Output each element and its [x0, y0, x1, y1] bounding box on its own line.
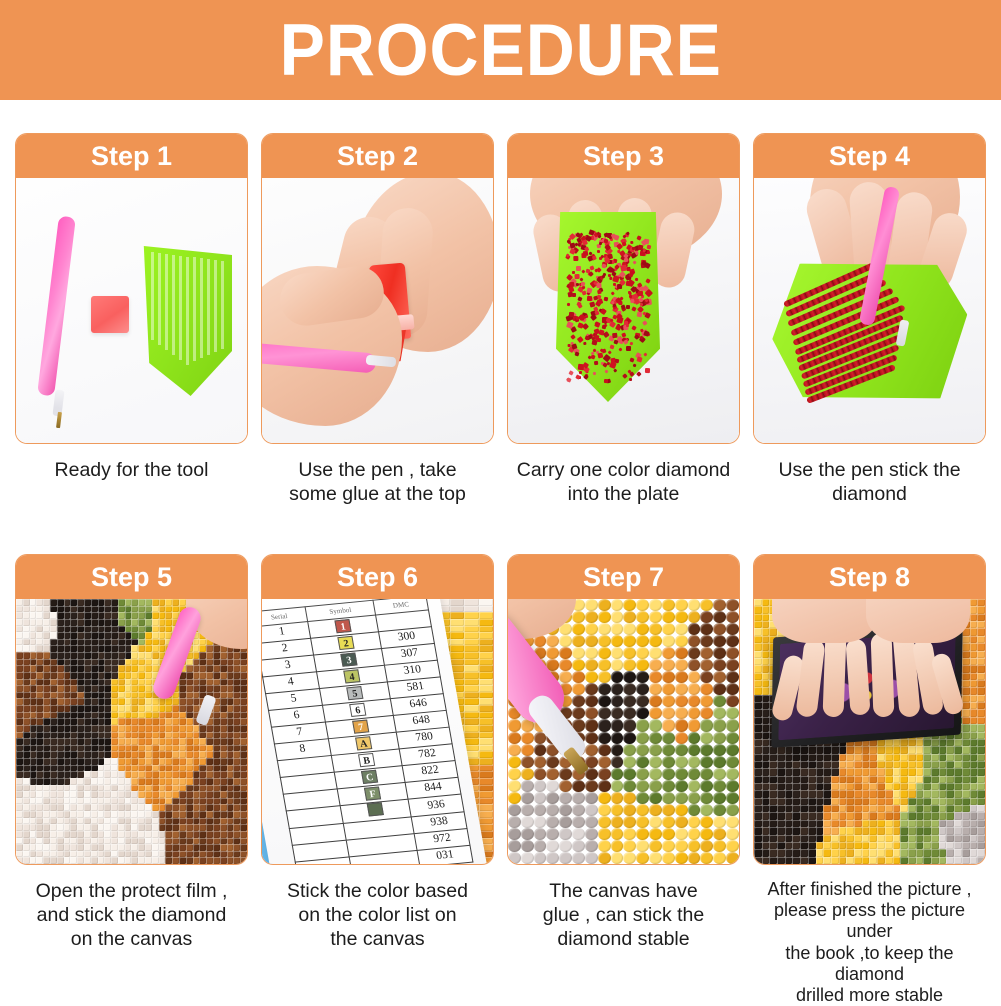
step-caption-8: After finished the picture , please pres… — [753, 879, 986, 1006]
step-header-4: Step 4 — [754, 134, 985, 178]
step-cell-3: Step 3 Carry one color diamond into the … — [507, 133, 740, 522]
step-cell-5: Step 5 Open the protect film , and stick… — [15, 554, 248, 1006]
step-header-label-1: Step 1 — [91, 143, 172, 170]
steps-row-top: Step 1 R — [15, 133, 986, 522]
glue-square-icon — [91, 296, 129, 333]
step-photo-6: Serial Symbol DMC 1122300333074431055581… — [262, 599, 493, 864]
step-header-label-2: Step 2 — [337, 143, 418, 170]
step-header-label-4: Step 4 — [829, 143, 910, 170]
step-header-label-6: Step 6 — [337, 564, 418, 591]
step-photo-1 — [16, 178, 247, 443]
step-card-7[interactable]: Step 7 — [507, 554, 740, 865]
step-header-7: Step 7 — [508, 555, 739, 599]
step-photo-7 — [508, 599, 739, 864]
step-cell-7: Step 7 The canvas have glue , can stick … — [507, 554, 740, 1006]
step-header-label-3: Step 3 — [583, 143, 664, 170]
page-title: PROCEDURE — [279, 14, 721, 87]
step-photo-3 — [508, 178, 739, 443]
step-cell-2: Step 2 — [261, 133, 494, 522]
step-card-6[interactable]: Step 6 Serial Symbol — [261, 554, 494, 865]
step-caption-3: Carry one color diamond into the plate — [507, 458, 740, 506]
step-card-1[interactable]: Step 1 — [15, 133, 248, 444]
steps-row-bottom: Step 5 Open the protect film , and stick… — [15, 554, 986, 1006]
green-tray-icon — [142, 246, 232, 396]
step-header-label-5: Step 5 — [91, 564, 172, 591]
steps-grid: Step 1 R — [0, 100, 1001, 1006]
step-card-8[interactable]: Step 8 — [753, 554, 986, 865]
step-cell-4: Step 4 Use the pen stick the diamond — [753, 133, 986, 522]
step-caption-2: Use the pen , take some glue at the top — [261, 458, 494, 506]
step-caption-4: Use the pen stick the diamond — [753, 458, 986, 506]
step-header-label-7: Step 7 — [583, 564, 664, 591]
step-photo-8 — [754, 599, 985, 864]
step-header-5: Step 5 — [16, 555, 247, 599]
step-photo-5 — [16, 599, 247, 864]
step-cell-6: Step 6 Serial Symbol — [261, 554, 494, 1006]
step-caption-7: The canvas have glue , can stick the dia… — [507, 879, 740, 952]
step-cell-1: Step 1 R — [15, 133, 248, 522]
step-header-6: Step 6 — [262, 555, 493, 599]
step-header-1: Step 1 — [16, 134, 247, 178]
step-card-2[interactable]: Step 2 — [261, 133, 494, 444]
step-header-8: Step 8 — [754, 555, 985, 599]
step-header-3: Step 3 — [508, 134, 739, 178]
step-card-3[interactable]: Step 3 — [507, 133, 740, 444]
page-banner: PROCEDURE — [0, 0, 1001, 100]
step-cell-8: Step 8 After finished the picture , plea… — [753, 554, 986, 1006]
step-caption-5: Open the protect film , and stick the di… — [15, 879, 248, 952]
step-photo-2 — [262, 178, 493, 443]
step-header-label-8: Step 8 — [829, 564, 910, 591]
step-photo-4 — [754, 178, 985, 443]
step-caption-6: Stick the color based on the color list … — [261, 879, 494, 952]
step-caption-1: Ready for the tool — [15, 458, 248, 482]
step-card-4[interactable]: Step 4 — [753, 133, 986, 444]
step-header-2: Step 2 — [262, 134, 493, 178]
step-card-5[interactable]: Step 5 — [15, 554, 248, 865]
